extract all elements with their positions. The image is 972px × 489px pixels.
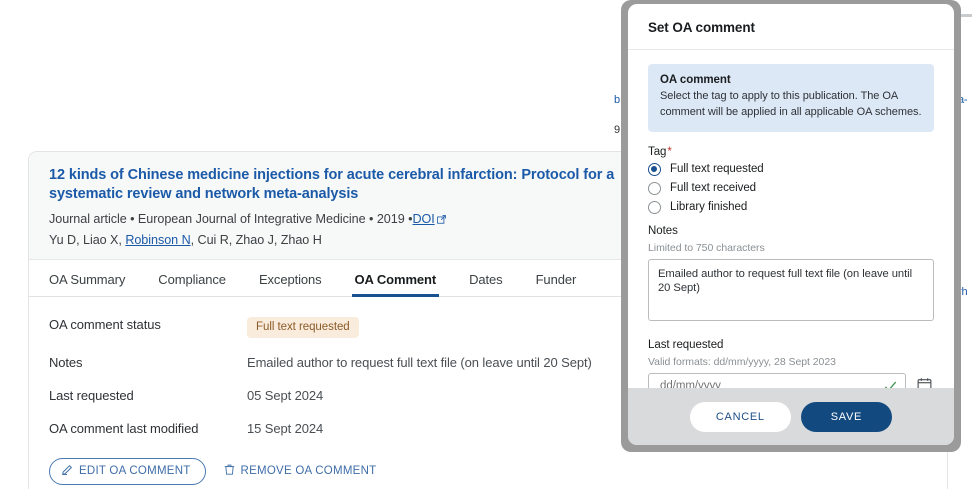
external-link-icon [437, 213, 446, 227]
dialog-header: Set OA comment [628, 4, 954, 50]
save-button[interactable]: SAVE [801, 402, 892, 432]
authors-suffix: , Cui R, Zhao J, Zhao H [191, 233, 322, 247]
meta-separator: • [369, 212, 373, 226]
doi-link[interactable]: DOI [412, 212, 434, 226]
info-callout-text: Select the tag to apply to this publicat… [660, 89, 922, 121]
tag-label-text: Tag [648, 146, 666, 158]
radio-label: Full text requested [670, 163, 764, 175]
radio-library-finished[interactable]: Library finished [648, 201, 934, 214]
tab-exceptions[interactable]: Exceptions [259, 272, 322, 296]
last-requested-fieldset: Last requested Valid formats: dd/mm/yyyy… [648, 339, 934, 388]
tab-oa-comment[interactable]: OA Comment [355, 272, 437, 296]
meta-separator: • [130, 212, 134, 226]
pencil-icon [62, 464, 73, 478]
edit-oa-comment-label: EDIT OA COMMENT [79, 465, 191, 477]
dialog-body: OA comment Select the tag to apply to th… [628, 50, 954, 388]
publication-journal: European Journal of Integrative Medicine [138, 212, 366, 226]
notes-field-label: Notes [648, 225, 934, 237]
required-asterisk: * [667, 146, 671, 158]
notes-textarea[interactable] [648, 259, 934, 321]
calendar-picker-button[interactable] [914, 375, 934, 388]
background-sliver: b [614, 94, 620, 106]
notes-field-hint: Limited to 750 characters [648, 242, 934, 254]
last-modified-value: 15 Sept 2024 [247, 419, 323, 436]
trash-icon [224, 464, 235, 478]
authors-prefix: Yu D, Liao X, [49, 233, 125, 247]
page-title: 12 kinds of Chinese medicine injections … [49, 166, 649, 205]
cancel-button[interactable]: CANCEL [690, 402, 791, 432]
radio-label: Full text received [670, 182, 756, 194]
calendar-icon [917, 377, 932, 388]
edit-oa-comment-button[interactable]: EDIT OA COMMENT [49, 458, 206, 485]
publication-year: 2019 [377, 212, 405, 226]
status-badge: Full text requested [247, 317, 359, 338]
publication-type: Journal article [49, 212, 127, 226]
notes-value: Emailed author to request full text file… [247, 353, 592, 370]
info-callout: OA comment Select the tag to apply to th… [648, 64, 934, 132]
tag-label: Tag* [648, 146, 934, 158]
author-link[interactable]: Robinson N [125, 233, 190, 247]
last-requested-date-input[interactable] [658, 379, 877, 388]
tab-dates[interactable]: Dates [469, 272, 502, 296]
tab-funder[interactable]: Funder [536, 272, 577, 296]
radio-label: Library finished [670, 201, 747, 213]
oa-comment-actions: EDIT OA COMMENT REMOVE OA COMMENT [49, 458, 927, 485]
radio-full-text-received[interactable]: Full text received [648, 182, 934, 195]
remove-oa-comment-button[interactable]: REMOVE OA COMMENT [214, 459, 387, 483]
dialog-title: Set OA comment [648, 20, 934, 35]
oa-comment-status-label: OA comment status [49, 315, 247, 332]
notes-label: Notes [49, 353, 247, 370]
radio-full-text-requested[interactable]: Full text requested [648, 163, 934, 176]
date-input-row [648, 373, 934, 388]
background-sliver: 9 [614, 124, 620, 136]
last-requested-field-hint: Valid formats: dd/mm/yyyy, 28 Sept 2023 [648, 356, 934, 368]
dialog-footer: CANCEL SAVE [628, 388, 954, 445]
set-oa-comment-dialog: Set OA comment OA comment Select the tag… [628, 4, 954, 445]
radio-icon[interactable] [648, 201, 661, 214]
tag-fieldset: Tag* Full text requested Full text recei… [648, 146, 934, 214]
valid-check-icon [884, 380, 897, 388]
radio-icon[interactable] [648, 163, 661, 176]
notes-fieldset: Notes Limited to 750 characters [648, 225, 934, 326]
screen-root: b 9 xc tr tr vl en a- rh 12 kinds of Chi… [0, 0, 972, 489]
last-requested-field-label: Last requested [648, 339, 934, 351]
last-requested-value: 05 Sept 2024 [247, 386, 323, 403]
tab-oa-summary[interactable]: OA Summary [49, 272, 125, 296]
info-callout-heading: OA comment [660, 74, 922, 86]
radio-icon[interactable] [648, 182, 661, 195]
date-input-wrapper[interactable] [648, 373, 906, 388]
last-modified-label: OA comment last modified [49, 419, 247, 436]
last-requested-label: Last requested [49, 386, 247, 403]
oa-comment-status-value: Full text requested [247, 315, 359, 338]
tab-compliance[interactable]: Compliance [158, 272, 226, 296]
remove-oa-comment-label: REMOVE OA COMMENT [241, 465, 377, 477]
